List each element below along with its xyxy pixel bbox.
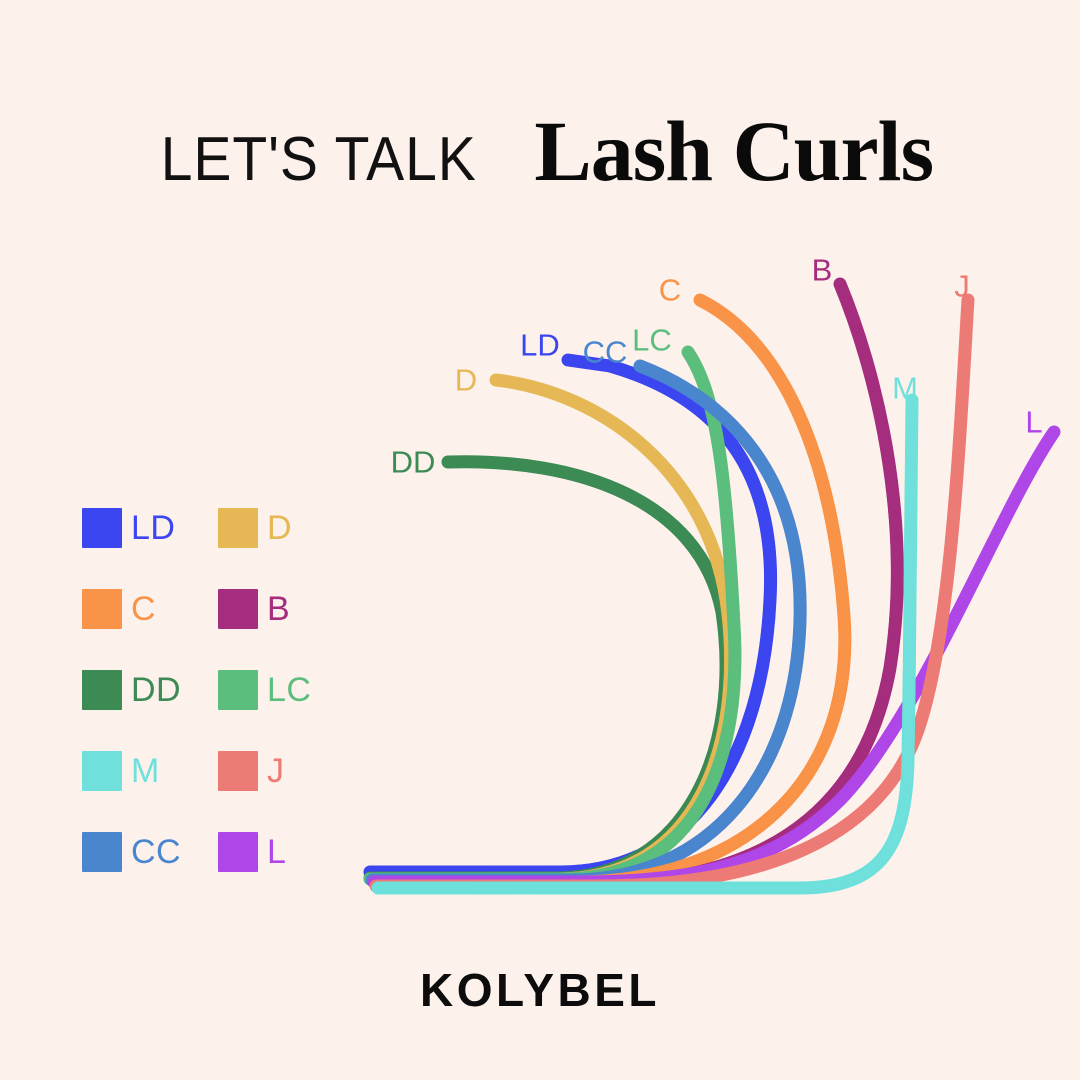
curve-label-ld: LD (520, 330, 560, 361)
legend-label: M (131, 754, 160, 788)
legend-item-d[interactable]: D (218, 508, 354, 548)
legend-item-j[interactable]: J (218, 751, 354, 791)
legend-item-m[interactable]: M (82, 751, 218, 791)
lash-stroke-layer (370, 352, 735, 879)
legend: LDDCBDDLCMJCCL (82, 508, 354, 913)
legend-swatch-dd (82, 670, 122, 710)
legend-item-lc[interactable]: LC (218, 670, 354, 710)
lash-stroke-layer (370, 352, 735, 879)
legend-item-cc[interactable]: CC (82, 832, 218, 872)
lash-stroke-layer (370, 352, 735, 879)
brand-wordmark: KOLYBEL (0, 963, 1080, 1017)
poster-canvas: LET'S TALK Lash Curls LDDDDLCCCCBLJM LDD… (0, 0, 1080, 1080)
lash-stroke-layer (370, 352, 735, 879)
lash-stroke-layer (370, 462, 726, 878)
legend-swatch-c (82, 589, 122, 629)
legend-item-ld[interactable]: LD (82, 508, 218, 548)
legend-item-dd[interactable]: DD (82, 670, 218, 710)
legend-item-b[interactable]: B (218, 589, 354, 629)
lash-stroke-layer (370, 352, 735, 879)
lash-stroke-layer (370, 352, 735, 879)
lash-stroke-layer (370, 352, 735, 879)
lash-stroke-layer (370, 352, 735, 879)
legend-item-c[interactable]: C (82, 589, 218, 629)
lash-stroke-layer (370, 352, 735, 879)
lash-stroke-layer (370, 352, 735, 879)
legend-label: LC (267, 673, 311, 707)
lash-stroke-layer (370, 352, 735, 879)
legend-swatch-l (218, 832, 258, 872)
legend-swatch-b (218, 589, 258, 629)
curve-label-cc: CC (583, 337, 628, 368)
curve-label-j: J (954, 271, 970, 302)
lash-stroke-layer (370, 352, 735, 879)
lash-stroke-layer (370, 352, 735, 879)
lash-stroke-layer (370, 352, 735, 879)
curve-label-b: B (812, 255, 833, 286)
legend-label: LD (131, 511, 175, 545)
lash-stroke-layer (370, 352, 735, 879)
legend-swatch-d (218, 508, 258, 548)
lash-stroke-layer (370, 352, 735, 879)
legend-swatch-cc (82, 832, 122, 872)
lash-stroke-layer (370, 352, 735, 879)
curve-label-l: L (1025, 407, 1042, 438)
lash-stroke-layer (370, 352, 735, 879)
curve-label-m: M (892, 373, 918, 404)
curve-label-c: C (659, 275, 681, 306)
legend-item-l[interactable]: L (218, 832, 354, 872)
lash-stroke-layer (370, 352, 735, 879)
lash-curve-dd (370, 462, 726, 878)
lash-stroke-layer (370, 352, 735, 879)
curve-label-dd: DD (391, 447, 436, 478)
legend-swatch-lc (218, 670, 258, 710)
legend-label: D (267, 511, 292, 545)
legend-swatch-ld (82, 508, 122, 548)
legend-label: C (131, 592, 156, 626)
lash-stroke-layer (370, 352, 735, 879)
legend-label: DD (131, 673, 181, 707)
lash-stroke-layer (370, 352, 735, 879)
lash-curve-lc (370, 352, 735, 879)
curve-label-d: D (455, 365, 477, 396)
legend-label: CC (131, 835, 181, 869)
lash-stroke-layer (370, 352, 735, 879)
lash-stroke-layer (370, 352, 735, 879)
lash-stroke-layer (370, 352, 735, 879)
legend-label: L (267, 835, 286, 869)
legend-swatch-m (82, 751, 122, 791)
legend-label: J (267, 754, 285, 788)
curve-label-lc: LC (632, 325, 672, 356)
lash-stroke-layer (370, 352, 735, 879)
legend-label: B (267, 592, 290, 626)
legend-swatch-j (218, 751, 258, 791)
